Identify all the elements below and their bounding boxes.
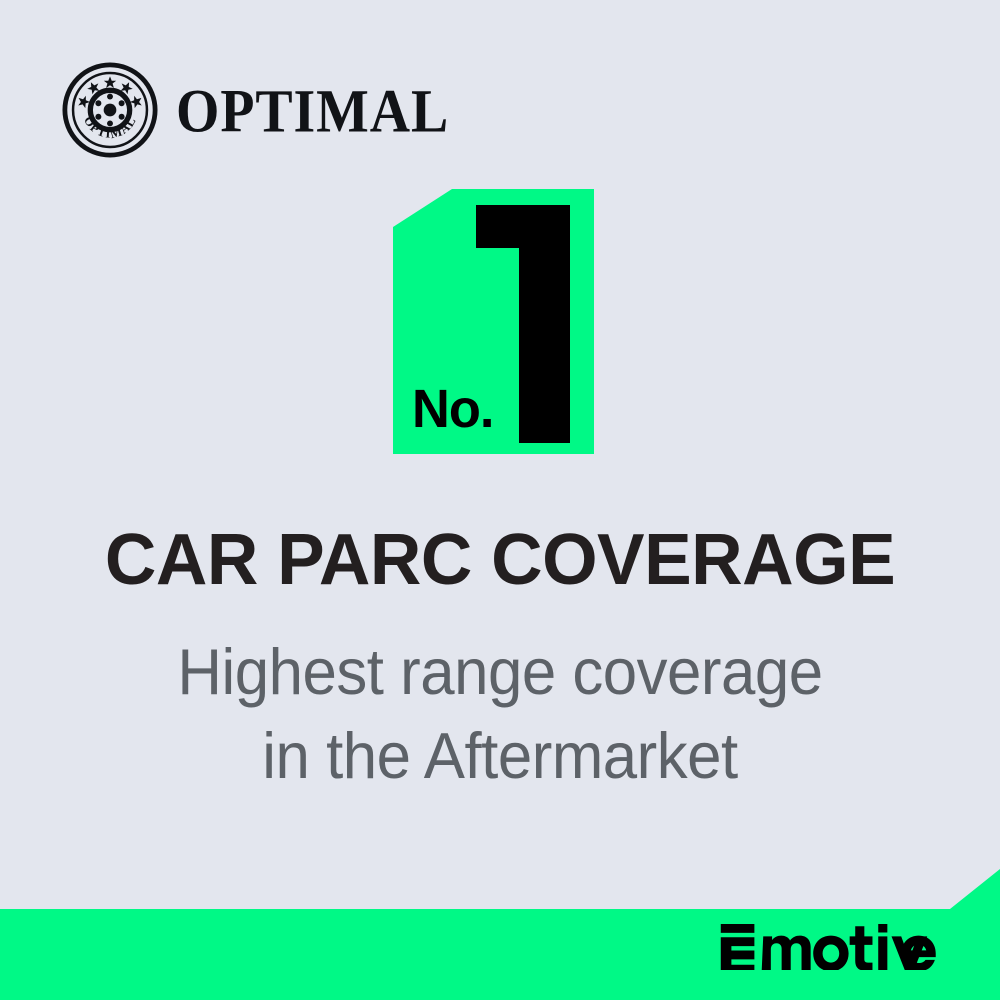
poster-canvas: OPTIMAL OPTIMAL No. CAR PARC COVERAGE Hi… — [0, 0, 1000, 1000]
emotive-logo-icon — [719, 924, 945, 970]
emotive-wordmark — [719, 924, 945, 970]
brand-logo: OPTIMAL OPTIMAL — [62, 62, 470, 158]
optimal-bearing-emblem-icon: OPTIMAL — [62, 62, 158, 158]
page-title: CAR PARC COVERAGE — [5, 524, 995, 596]
brand-wordmark: OPTIMAL — [176, 78, 449, 141]
subtitle: Highest range coverage in the Aftermarke… — [25, 630, 975, 798]
subtitle-line-2: in the Aftermarket — [25, 714, 975, 798]
rank-label: No. — [412, 382, 493, 436]
rank-badge: No. — [393, 189, 594, 454]
emblem-curved-text: OPTIMAL — [81, 114, 139, 141]
numeral-stem — [519, 205, 570, 443]
subtitle-line-1: Highest range coverage — [25, 630, 975, 714]
